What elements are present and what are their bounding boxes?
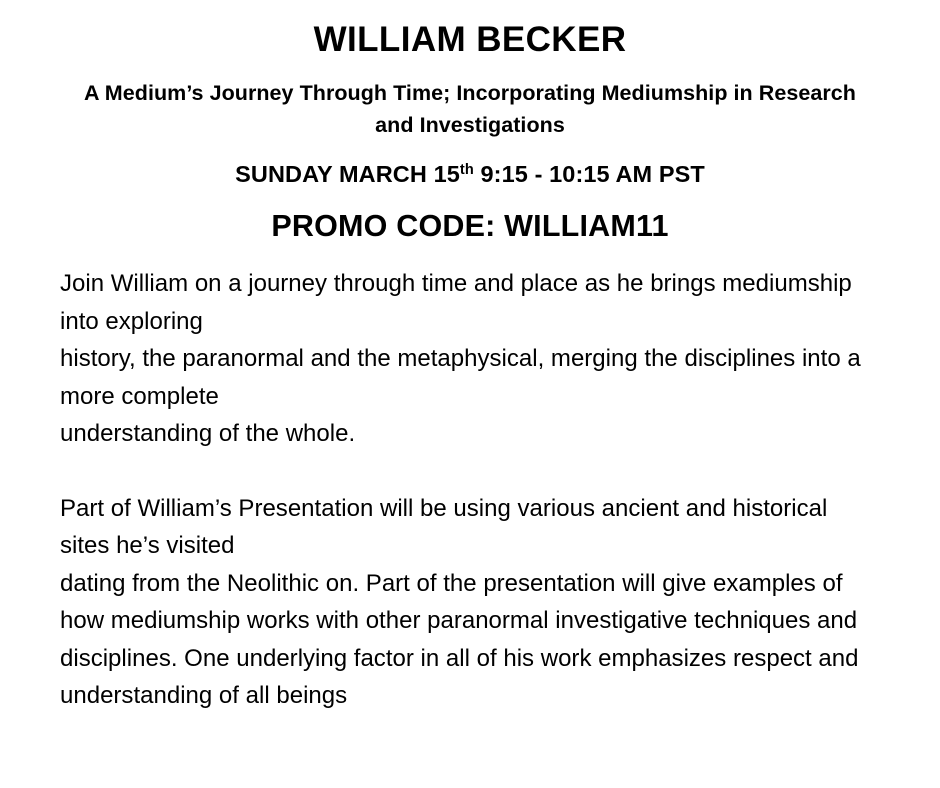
event-date: SUNDAY MARCH 15 (235, 161, 460, 187)
event-datetime: SUNDAY MARCH 15th 9:15 - 10:15 AM PST (0, 159, 940, 193)
description-paragraph: Part of William’s Presentation will be u… (60, 490, 882, 715)
event-description-page: WILLIAM BECKER A Medium’s Journey Throug… (0, 0, 940, 788)
date-ordinal-suffix: th (460, 162, 474, 178)
paragraph-spacer (60, 453, 882, 490)
description-body: Join William on a journey through time a… (0, 265, 940, 715)
description-paragraph: Join William on a journey through time a… (60, 265, 882, 453)
page-title: WILLIAM BECKER (0, 18, 940, 62)
heading-block: WILLIAM BECKER A Medium’s Journey Throug… (0, 0, 940, 245)
event-time-range: 9:15 - 10:15 AM PST (474, 161, 705, 187)
talk-title: A Medium’s Journey Through Time; Incorpo… (75, 77, 865, 141)
promo-code: PROMO CODE: WILLIAM11 (0, 207, 940, 245)
